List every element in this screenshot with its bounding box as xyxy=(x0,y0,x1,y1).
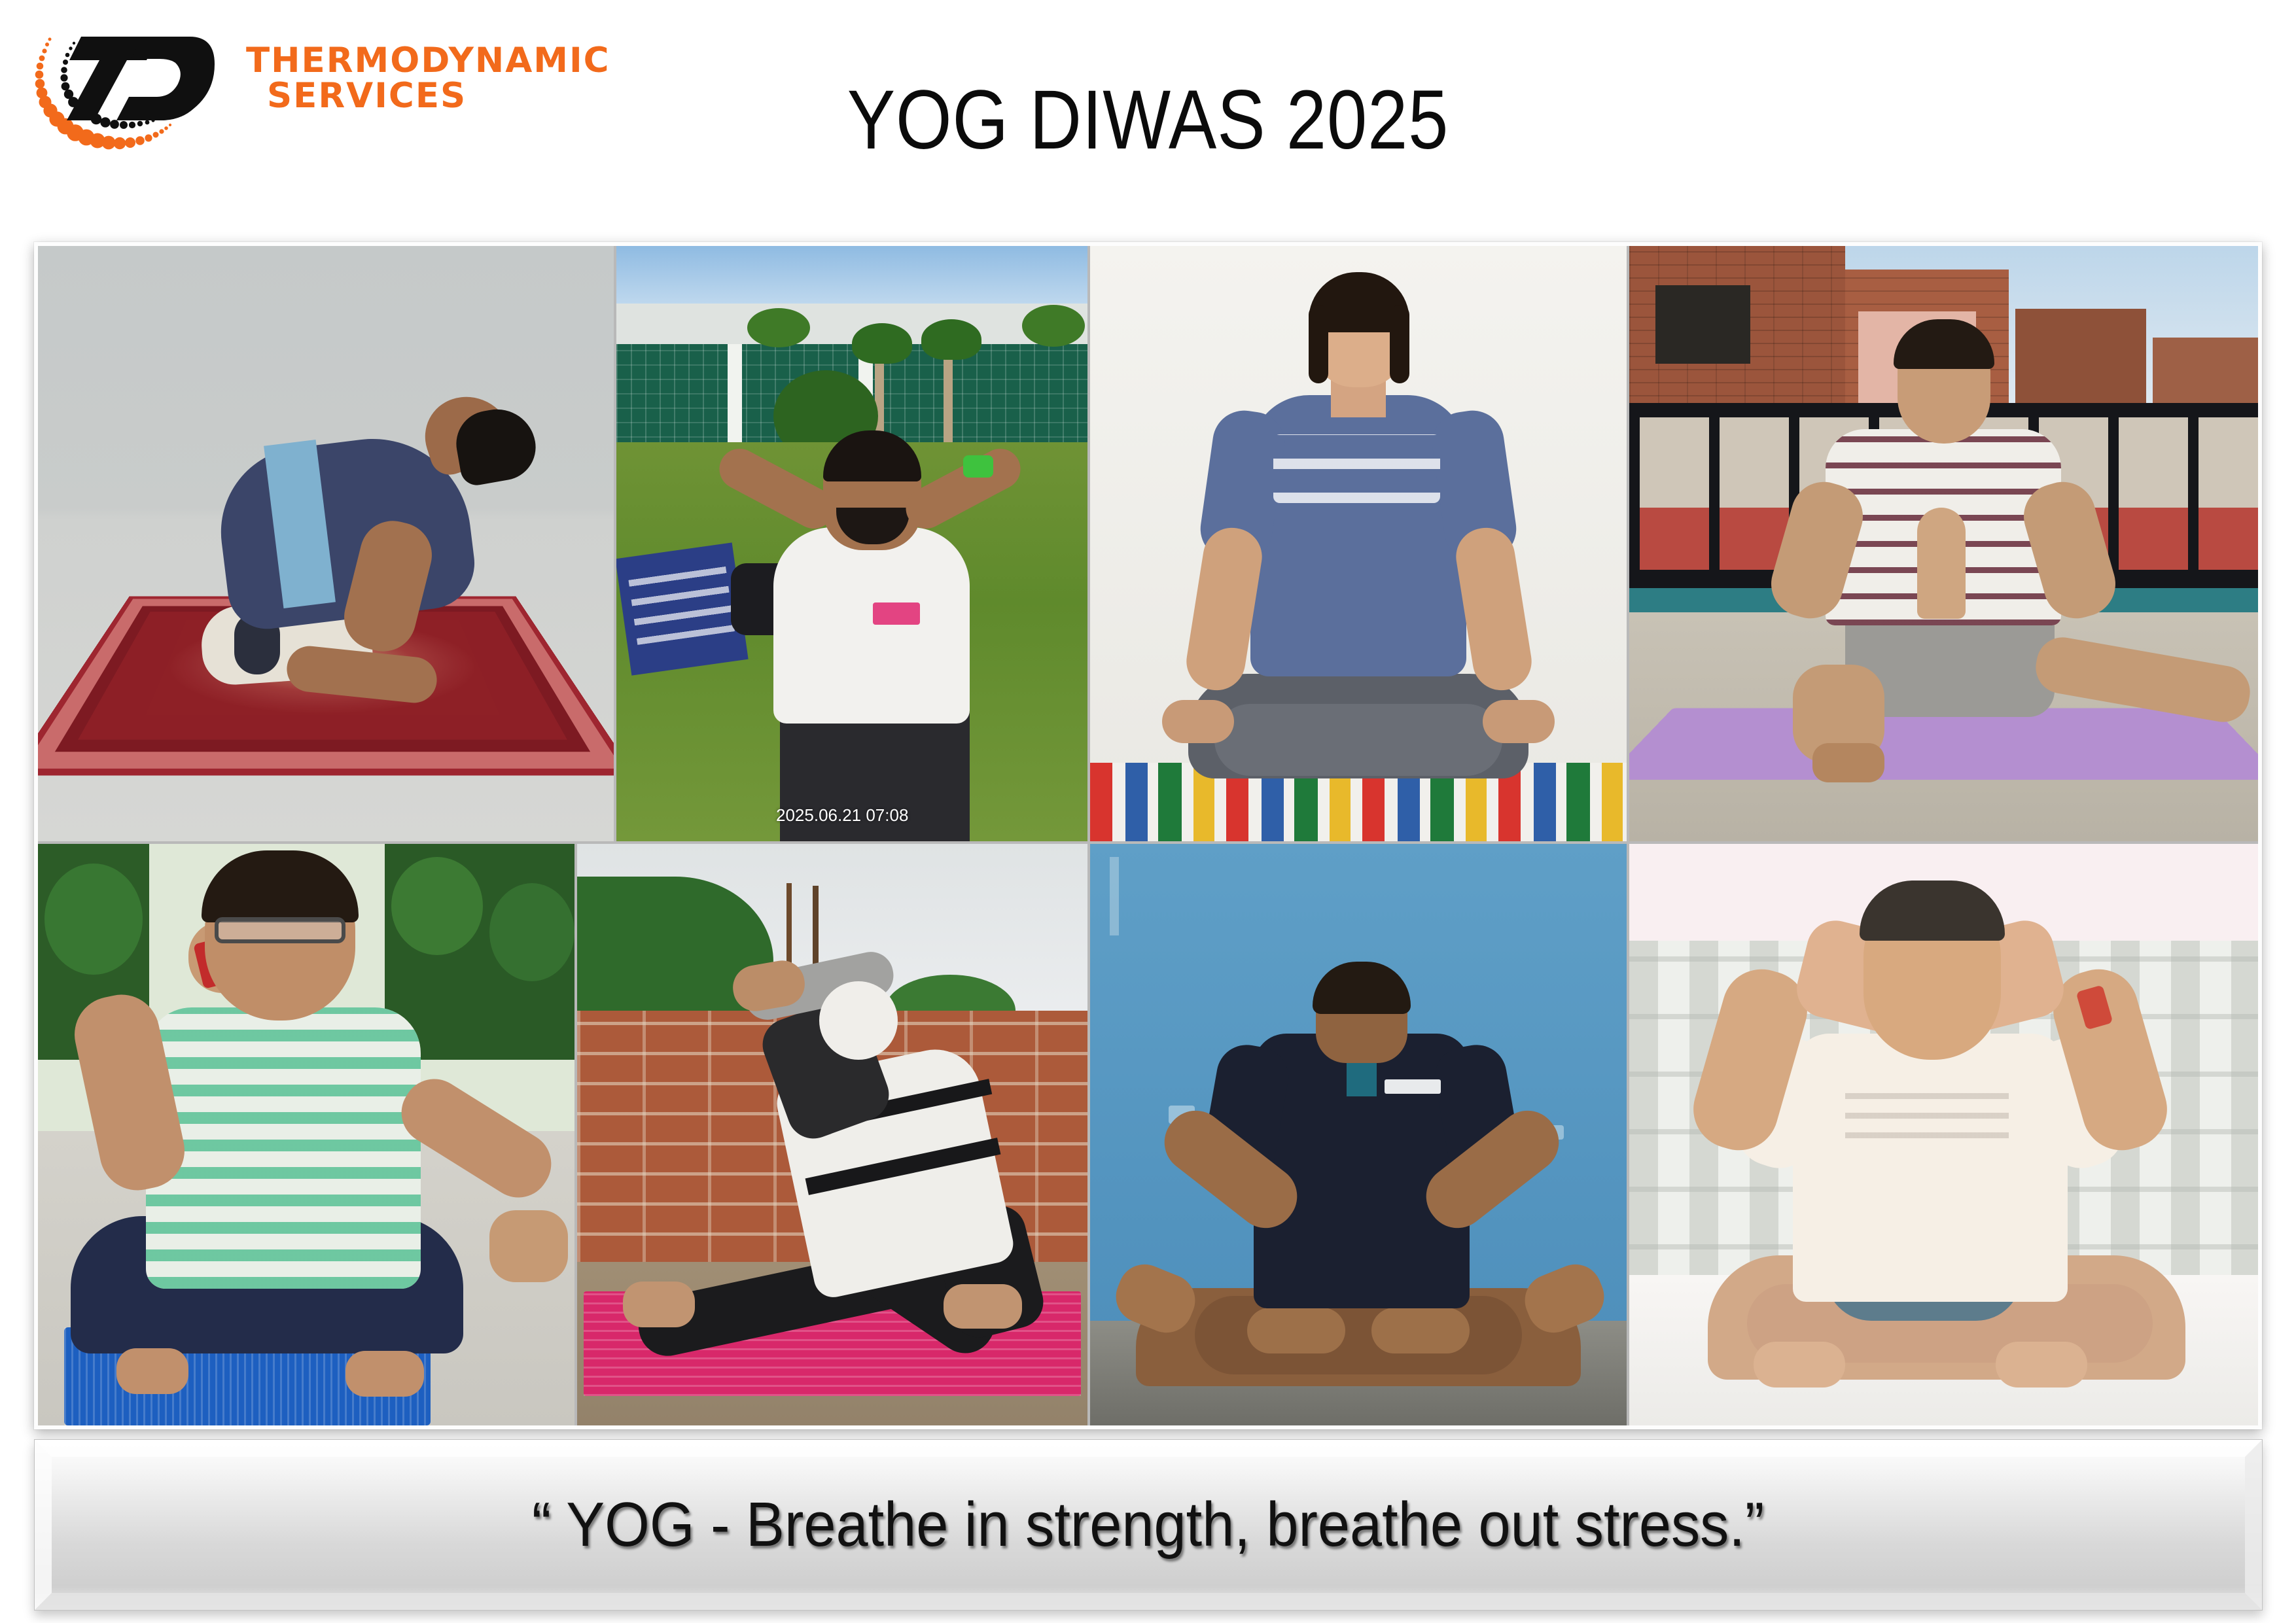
slide-header: THERMODYNAMIC SERVICES YOG DIWAS 2025 xyxy=(0,0,2296,243)
collage-photo-6[interactable] xyxy=(577,844,1087,1425)
collage-photo-5[interactable] xyxy=(38,844,574,1425)
photo-4-image xyxy=(1629,246,2258,841)
photo-6-image xyxy=(577,844,1087,1425)
collage-photo-1[interactable] xyxy=(38,246,614,841)
photo-5-image xyxy=(38,844,574,1425)
slide-root: THERMODYNAMIC SERVICES YOG DIWAS 2025 xyxy=(0,0,2296,1623)
collage-photo-3[interactable] xyxy=(1090,246,1627,841)
photo-2-image xyxy=(616,246,1087,841)
quote-banner: “ YOG - Breathe in strength, breathe out… xyxy=(34,1439,2263,1611)
page-title: YOG DIWAS 2025 xyxy=(161,79,2136,162)
collage-photo-7[interactable] xyxy=(1090,844,1627,1425)
company-name-line1: THERMODYNAMIC xyxy=(246,43,573,78)
photo-2-caption: 2025.06.21 07:08 xyxy=(776,805,908,826)
photo-1-image xyxy=(38,246,614,841)
photo-7-image xyxy=(1090,844,1627,1425)
photo-collage-frame: 2025.06.21 07:08 xyxy=(34,242,2262,1429)
collage-photo-2[interactable]: 2025.06.21 07:08 xyxy=(616,246,1087,841)
photo-8-image xyxy=(1629,844,2258,1425)
photo-collage: 2025.06.21 07:08 xyxy=(38,246,2258,1425)
photo-3-image xyxy=(1090,246,1627,841)
quote-text: “ YOG - Breathe in strength, breathe out… xyxy=(532,1489,1764,1561)
collage-photo-4[interactable] xyxy=(1629,246,2258,841)
collage-photo-8[interactable] xyxy=(1629,844,2258,1425)
